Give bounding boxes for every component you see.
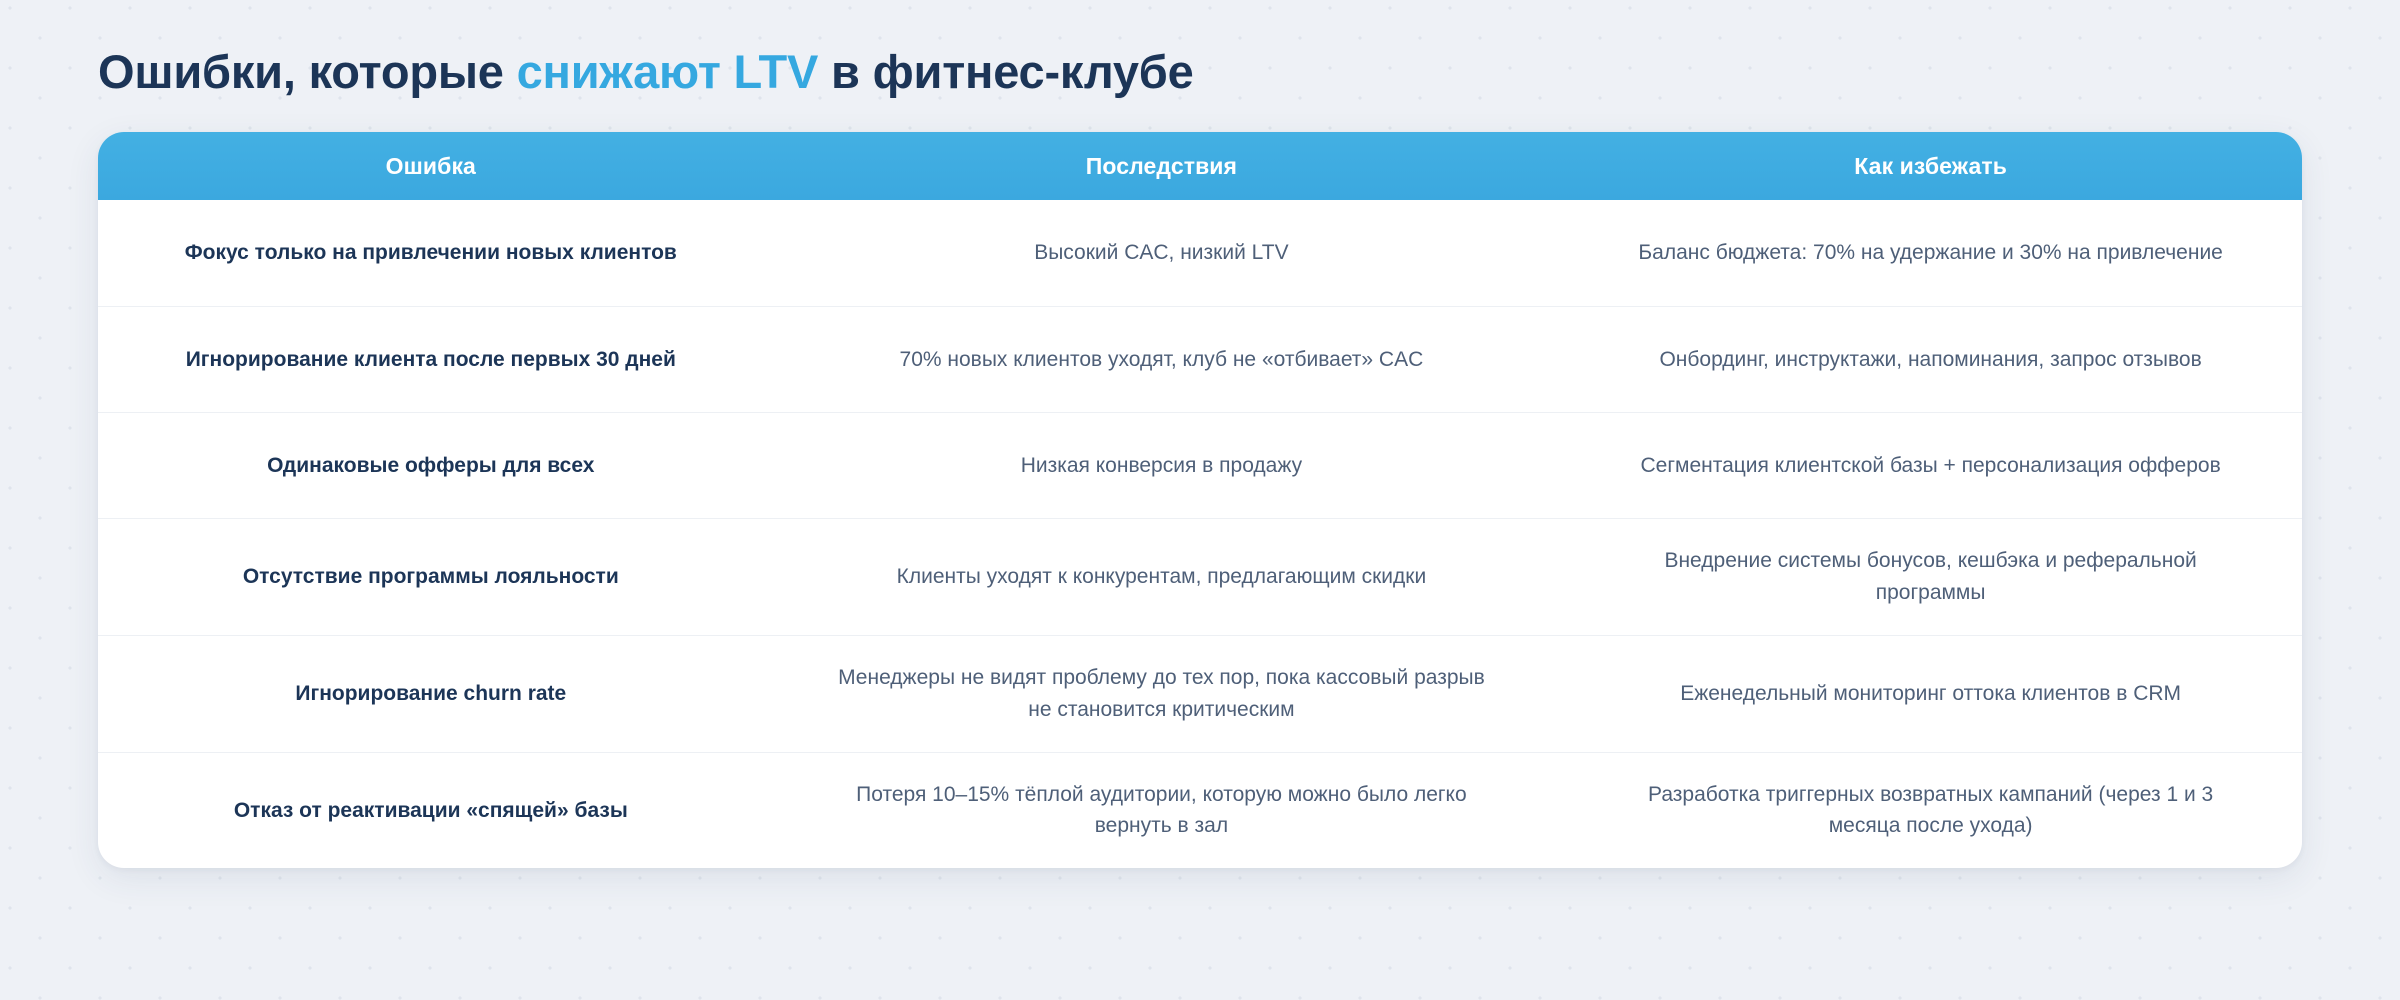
mistakes-table: Ошибка Последствия Как избежать Фокус то… — [98, 132, 2302, 868]
cell-avoid: Онбординг, инструктажи, напоминания, зап… — [1559, 306, 2302, 412]
cell-avoid: Внедрение системы бонусов, кешбэка и реф… — [1559, 518, 2302, 635]
cell-avoid: Сегментация клиентской базы + персонализ… — [1559, 412, 2302, 518]
cell-mistake: Фокус только на привлечении новых клиент… — [98, 200, 764, 306]
page-title-part-after: в фитнес-клубе — [818, 45, 1193, 98]
page-title-highlight: снижают LTV — [517, 45, 819, 98]
cell-consequence: Потеря 10–15% тёплой аудитории, которую … — [764, 752, 1560, 868]
table-row: Отсутствие программы лояльности Клиенты … — [98, 518, 2302, 635]
page-title-part-before: Ошибки, которые — [98, 45, 517, 98]
page-root: Ошибки, которые снижают LTV в фитнес-клу… — [0, 0, 2400, 1000]
cell-consequence: Менеджеры не видят проблему до тех пор, … — [764, 635, 1560, 752]
cell-consequence: Высокий CAC, низкий LTV — [764, 200, 1560, 306]
table-body: Фокус только на привлечении новых клиент… — [98, 200, 2302, 868]
column-header-avoid: Как избежать — [1559, 132, 2302, 200]
table-row: Одинаковые офферы для всех Низкая конвер… — [98, 412, 2302, 518]
table-row: Отказ от реактивации «спящей» базы Потер… — [98, 752, 2302, 868]
table-row: Фокус только на привлечении новых клиент… — [98, 200, 2302, 306]
cell-mistake: Игнорирование churn rate — [98, 635, 764, 752]
cell-consequence: Клиенты уходят к конкурентам, предлагающ… — [764, 518, 1560, 635]
cell-consequence: 70% новых клиентов уходят, клуб не «отби… — [764, 306, 1560, 412]
cell-avoid: Еженедельный мониторинг оттока клиентов … — [1559, 635, 2302, 752]
page-title: Ошибки, которые снижают LTV в фитнес-клу… — [98, 44, 2400, 99]
title-section: Ошибки, которые снижают LTV в фитнес-клу… — [0, 0, 2400, 99]
cell-mistake: Отказ от реактивации «спящей» базы — [98, 752, 764, 868]
cell-mistake: Игнорирование клиента после первых 30 дн… — [98, 306, 764, 412]
cell-consequence: Низкая конверсия в продажу — [764, 412, 1560, 518]
column-header-mistake: Ошибка — [98, 132, 764, 200]
table-row: Игнорирование клиента после первых 30 дн… — [98, 306, 2302, 412]
mistakes-table-card: Ошибка Последствия Как избежать Фокус то… — [98, 132, 2302, 868]
table-header: Ошибка Последствия Как избежать — [98, 132, 2302, 200]
cell-mistake: Отсутствие программы лояльности — [98, 518, 764, 635]
column-header-consequence: Последствия — [764, 132, 1560, 200]
cell-avoid: Баланс бюджета: 70% на удержание и 30% н… — [1559, 200, 2302, 306]
table-header-row: Ошибка Последствия Как избежать — [98, 132, 2302, 200]
cell-avoid: Разработка триггерных возвратных кампани… — [1559, 752, 2302, 868]
table-row: Игнорирование churn rate Менеджеры не ви… — [98, 635, 2302, 752]
cell-mistake: Одинаковые офферы для всех — [98, 412, 764, 518]
